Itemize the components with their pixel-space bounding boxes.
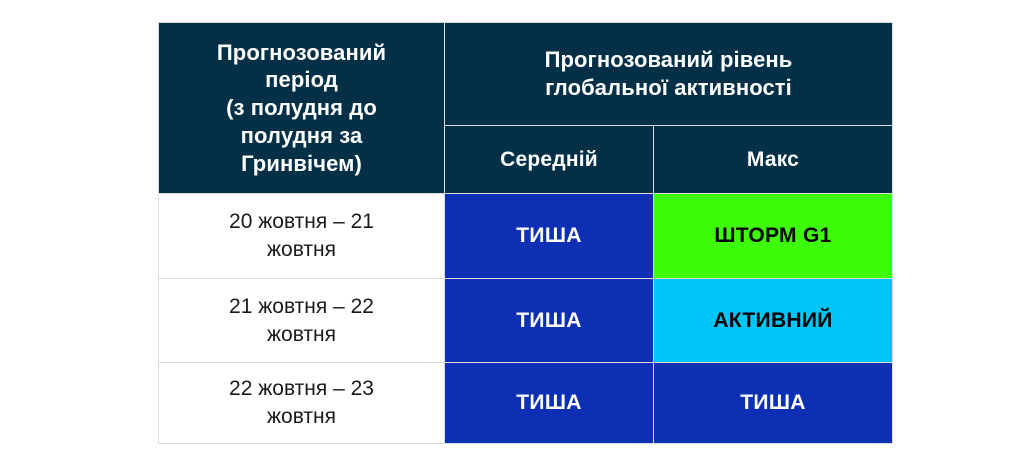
period-line-2: жовтня (159, 321, 444, 349)
table-body: 20 жовтня – 21 жовтня ТИША ШТОРМ G1 21 ж… (159, 194, 893, 444)
cell-max-level: ШТОРМ G1 (654, 194, 893, 279)
header-mean: Середній (445, 126, 654, 194)
header-max: Макс (654, 126, 893, 194)
period-line-1: 20 жовтня – 21 (159, 208, 444, 236)
table-row: 21 жовтня – 22 жовтня ТИША АКТИВНИЙ (159, 279, 893, 363)
header-global-line-1: Прогнозований рівень (445, 46, 892, 74)
cell-period: 20 жовтня – 21 жовтня (159, 194, 445, 279)
cell-period: 22 жовтня – 23 жовтня (159, 363, 445, 444)
table-row: 20 жовтня – 21 жовтня ТИША ШТОРМ G1 (159, 194, 893, 279)
header-global-line-2: глобальної активності (445, 74, 892, 102)
forecast-table-container: Прогнозований період (з полудня до полуд… (158, 22, 892, 443)
period-line-2: жовтня (159, 403, 444, 431)
cell-max-level: АКТИВНИЙ (654, 279, 893, 363)
cell-mean-level: ТИША (445, 194, 654, 279)
table-row: 22 жовтня – 23 жовтня ТИША ТИША (159, 363, 893, 444)
header-global-activity-level: Прогнозований рівень глобальної активнос… (445, 23, 893, 126)
header-period-line-5: Гринвічем) (159, 150, 444, 178)
header-period-line-2: період (159, 66, 444, 94)
cell-mean-level: ТИША (445, 363, 654, 444)
header-period-line-1: Прогнозований (159, 39, 444, 67)
period-line-1: 22 жовтня – 23 (159, 375, 444, 403)
geomagnetic-forecast-table: Прогнозований період (з полудня до полуд… (158, 22, 893, 444)
header-forecast-period: Прогнозований період (з полудня до полуд… (159, 23, 445, 194)
cell-period: 21 жовтня – 22 жовтня (159, 279, 445, 363)
period-line-2: жовтня (159, 236, 444, 264)
cell-max-level: ТИША (654, 363, 893, 444)
header-period-line-4: полудня за (159, 122, 444, 150)
table-header: Прогнозований період (з полудня до полуд… (159, 23, 893, 194)
header-period-line-3: (з полудня до (159, 94, 444, 122)
period-line-1: 21 жовтня – 22 (159, 293, 444, 321)
cell-mean-level: ТИША (445, 279, 654, 363)
header-row-primary: Прогнозований період (з полудня до полуд… (159, 23, 893, 126)
